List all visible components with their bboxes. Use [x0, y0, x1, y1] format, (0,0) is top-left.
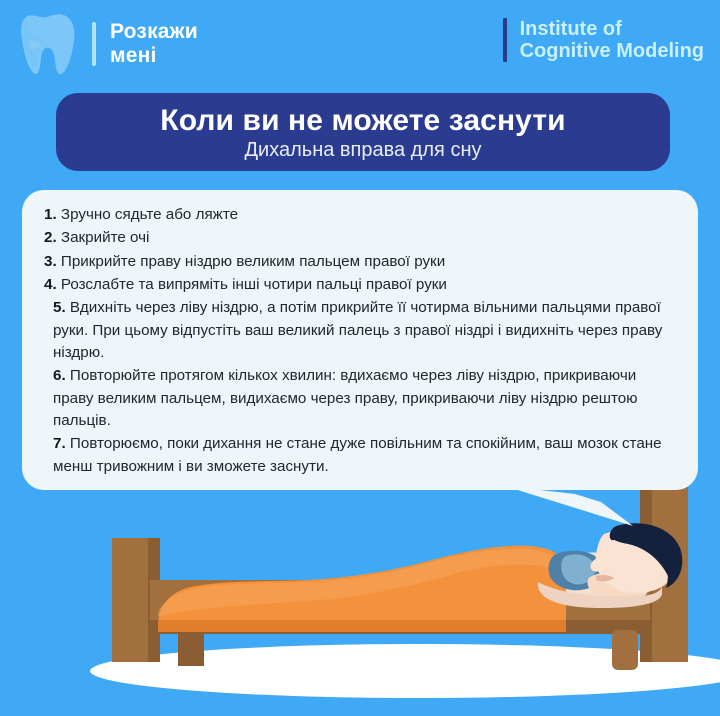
blanket-shadow: [158, 620, 566, 632]
list-item-number: 3.: [44, 253, 57, 270]
speech-bubble: 1. Зручно сядьте або ляжте 2. Закрийте о…: [22, 190, 698, 490]
bed-leg-right: [612, 630, 638, 670]
list-item-number: 5.: [53, 299, 66, 316]
brand-right: Institute of Cognitive Modeling: [503, 18, 704, 63]
list-item-text: Повторюйте протягом кількох хвилин: вдих…: [53, 367, 638, 429]
title-banner: Коли ви не можете заснути Дихальна вправ…: [56, 93, 670, 171]
list-item-text: Повторюємо, поки дихання не стане дуже п…: [53, 435, 662, 474]
brand-right-label: Institute of Cognitive Modeling: [520, 18, 704, 63]
list-item-text: Вдихніть через ліву ніздрю, а потім прик…: [53, 299, 662, 361]
brand-left-divider: [92, 22, 96, 66]
page-subtitle: Дихальна вправа для сну: [245, 140, 482, 161]
bed-leg-left: [178, 630, 204, 666]
list-item-number: 6.: [53, 367, 66, 384]
brand-left-label: Розкажи мені: [110, 20, 198, 68]
list-item-number: 1.: [44, 206, 57, 223]
list-item-number: 7.: [53, 435, 66, 452]
list-item: 7. Повторюємо, поки дихання не стане дуж…: [44, 433, 678, 478]
instruction-list: 1. Зручно сядьте або ляжте 2. Закрийте о…: [44, 204, 678, 478]
list-item: 6. Повторюйте протягом кількох хвилин: в…: [44, 365, 678, 432]
list-item-text: Прикрийте праву ніздрю великим пальцем п…: [61, 253, 445, 270]
list-item-number: 4.: [44, 276, 57, 293]
list-item: 3. Прикрийте праву ніздрю великим пальце…: [44, 251, 678, 273]
list-item: 4. Розслабте та випряміть інші чотири па…: [44, 274, 678, 296]
list-item: 1. Зручно сядьте або ляжте: [44, 204, 678, 226]
list-item-number: 2.: [44, 229, 57, 246]
list-item: 5. Вдихніть через ліву ніздрю, а потім п…: [44, 297, 678, 364]
list-item-text: Зручно сядьте або ляжте: [61, 206, 238, 223]
list-item-text: Розслабте та випряміть інші чотири пальц…: [61, 276, 447, 293]
brand-right-divider: [503, 18, 507, 62]
speech-bubble-tail: [505, 486, 635, 528]
list-item: 2. Закрийте очі: [44, 227, 678, 249]
tooth-logo-icon: [12, 7, 86, 81]
infographic-canvas: Розкажи мені Institute of Cognitive Mode…: [0, 0, 720, 716]
page-title: Коли ви не можете заснути: [160, 105, 565, 137]
list-item-text: Закрийте очі: [61, 229, 150, 246]
brand-left: Розкажи мені: [12, 6, 198, 82]
header: Розкажи мені Institute of Cognitive Mode…: [0, 0, 720, 88]
